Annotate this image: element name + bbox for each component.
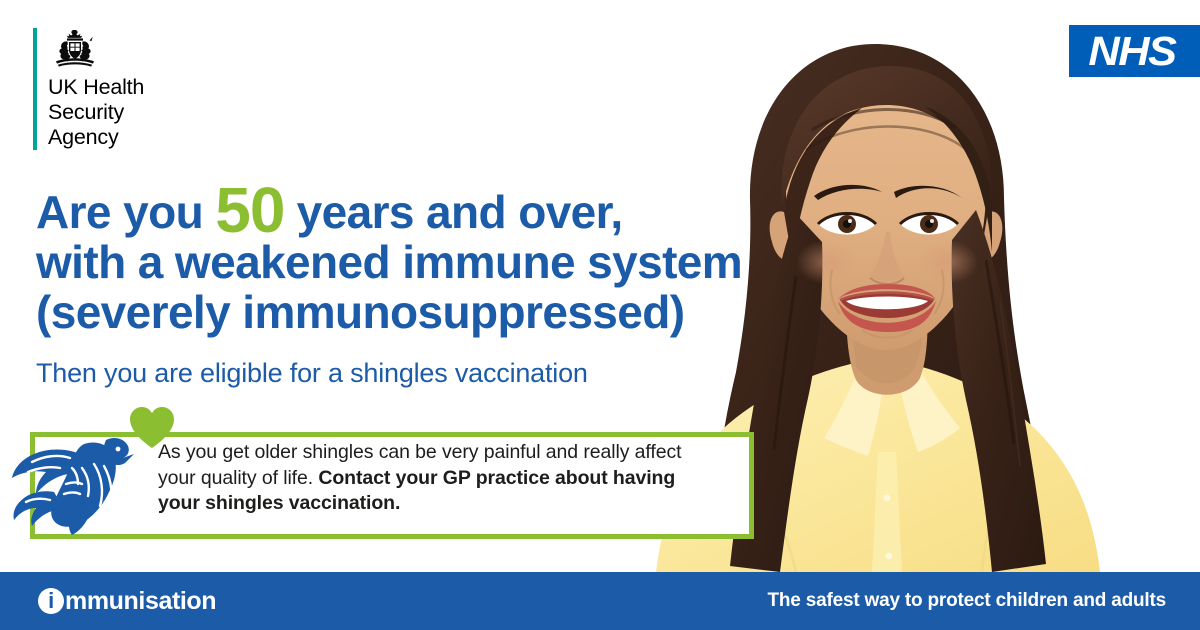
info-i-icon: i bbox=[38, 588, 64, 614]
ukhsa-wordmark: UK Health Security Agency bbox=[48, 75, 144, 150]
callout-text: As you get older shingles can be very pa… bbox=[158, 440, 718, 517]
immunisation-wordmark: mmunisation bbox=[65, 587, 216, 616]
subtitle: Then you are eligible for a shingles vac… bbox=[36, 358, 588, 389]
immunisation-logo: i mmunisation bbox=[38, 587, 216, 616]
headline-line-3: (severely immunosuppressed) bbox=[36, 287, 736, 337]
bottom-banner: i mmunisation The safest way to protect … bbox=[0, 572, 1200, 630]
nhs-logo: NHS bbox=[1069, 25, 1200, 77]
ukhsa-logo: UK Health Security Agency bbox=[33, 28, 144, 150]
nhs-wordmark: NHS bbox=[1089, 31, 1180, 72]
bird-icon bbox=[10, 428, 160, 536]
headline-line-2: with a weakened immune system bbox=[36, 237, 736, 287]
royal-coat-of-arms-icon bbox=[48, 28, 102, 70]
headline-line-1-before: Are you bbox=[36, 186, 215, 238]
page-title: Are you 50 years and over, with a weaken… bbox=[36, 185, 736, 337]
headline-line-1-after: years and over, bbox=[284, 186, 622, 238]
banner-tagline: The safest way to protect children and a… bbox=[767, 590, 1166, 612]
headline-line-1: Are you 50 years and over, bbox=[36, 185, 736, 237]
poster: UK Health Security Agency NHS Are you 50… bbox=[0, 0, 1200, 630]
